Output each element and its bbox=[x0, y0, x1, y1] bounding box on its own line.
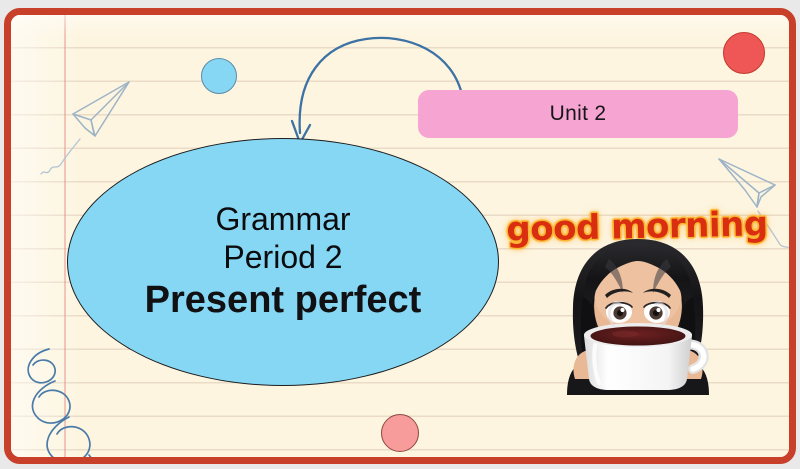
avatar-woman-with-coffee bbox=[527, 233, 749, 403]
title-bubble[interactable]: Grammar Period 2 Present perfect bbox=[67, 138, 499, 386]
margin-line bbox=[64, 15, 66, 457]
slide-canvas: Unit 2 Grammar Period 2 Present perfect … bbox=[0, 0, 800, 469]
blue-circle-decoration bbox=[201, 58, 237, 94]
pink-circle-decoration bbox=[381, 414, 419, 452]
red-circle-decoration bbox=[723, 32, 765, 74]
title-line-grammar: Grammar bbox=[215, 201, 350, 238]
slide-frame: Unit 2 Grammar Period 2 Present perfect … bbox=[4, 8, 796, 464]
unit-badge-label: Unit 2 bbox=[550, 102, 607, 126]
unit-badge[interactable]: Unit 2 bbox=[418, 90, 738, 138]
title-line-topic: Present perfect bbox=[145, 278, 422, 323]
title-line-period: Period 2 bbox=[223, 239, 342, 276]
